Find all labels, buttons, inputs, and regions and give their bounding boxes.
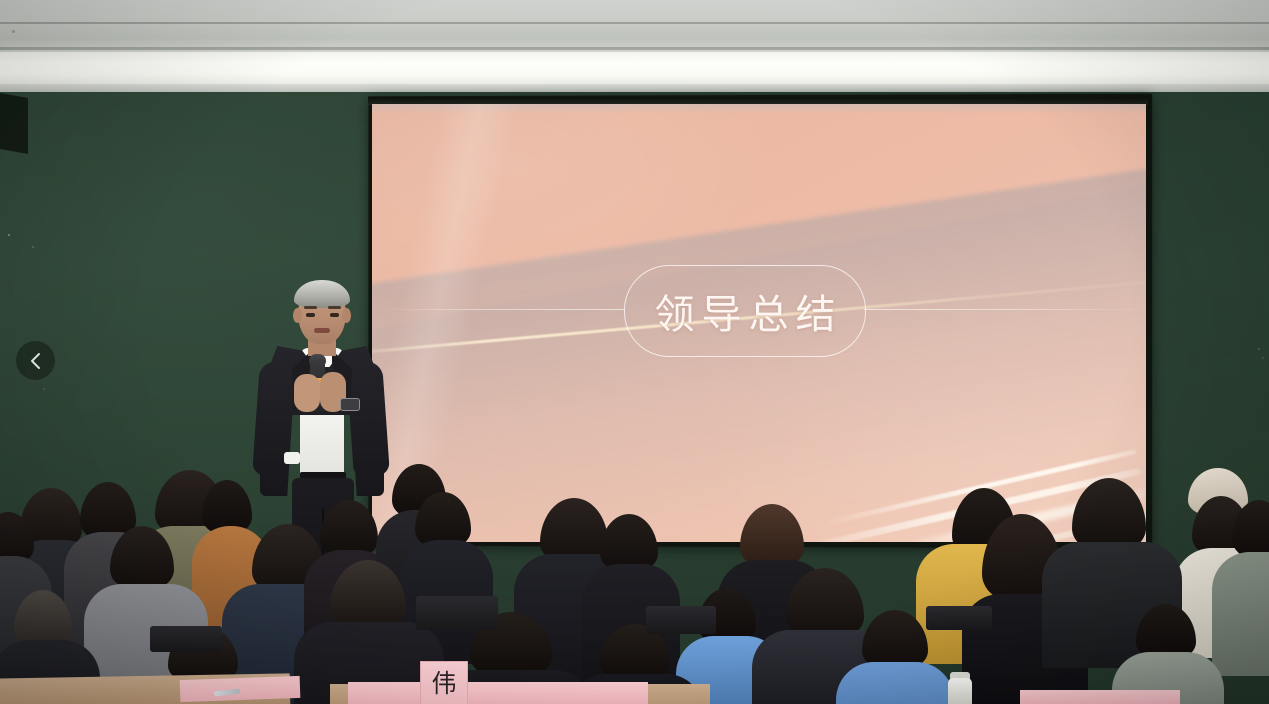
presenter-ear: [342, 308, 351, 323]
previous-photo-button[interactable]: [16, 341, 55, 380]
name-placard-text: 伟: [431, 671, 456, 696]
wall-speck: [43, 388, 45, 390]
presenter-eye: [330, 313, 339, 317]
ceiling-seam: [0, 22, 1269, 24]
laptop: [150, 626, 222, 652]
pink-paper: [180, 676, 301, 702]
presenter-hair: [294, 280, 350, 308]
presenter-brow: [304, 306, 317, 309]
torso: [836, 662, 954, 704]
torso: [1212, 552, 1269, 676]
photo-viewer: 领导总结: [0, 0, 1269, 704]
presenter-mouth: [314, 328, 330, 333]
name-placard: 伟: [420, 661, 468, 704]
laptop: [646, 606, 716, 634]
presenter-wristwatch: [340, 398, 360, 411]
chevron-left-icon: [28, 351, 43, 371]
pink-paper: [348, 682, 648, 704]
head-hair: [1072, 478, 1146, 552]
presenter-eye: [306, 313, 315, 317]
chair-back: [926, 606, 992, 630]
pink-paper: [1020, 690, 1180, 704]
ceiling-seam: [0, 47, 1269, 50]
audience: [0, 440, 1269, 704]
wall-mounted-speaker: [0, 92, 28, 154]
wall-speck: [8, 234, 10, 236]
ceiling-screw: [12, 30, 15, 33]
presenter-hand: [294, 374, 320, 412]
presenter-ear: [293, 308, 302, 323]
wall-speck: [32, 246, 34, 248]
laptop: [416, 596, 498, 630]
head-hair: [740, 504, 804, 568]
ceiling-light-strip: [0, 52, 1269, 84]
water-bottle: [948, 678, 972, 704]
wall-speck: [1262, 357, 1264, 359]
wall-speck: [1258, 348, 1260, 350]
presenter-brow: [328, 306, 341, 309]
